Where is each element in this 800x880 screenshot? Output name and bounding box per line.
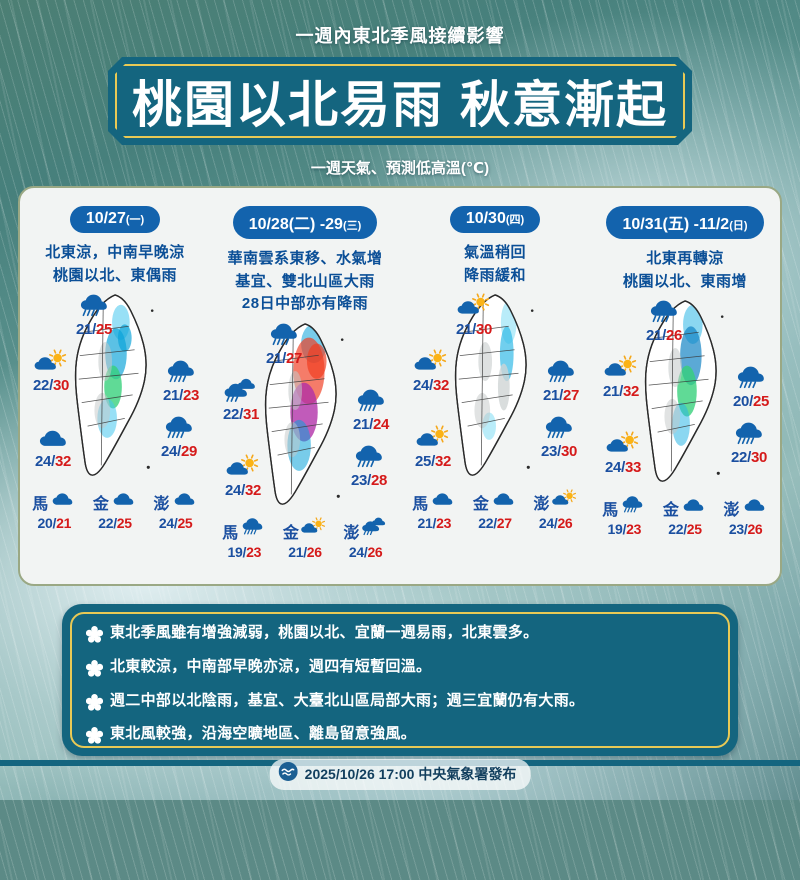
note-item: 北東較涼，中南部早晚亦涼，週四有短暫回溫。 — [86, 658, 714, 683]
weather-icon-rain — [239, 517, 266, 543]
temperature-range: 24/32 — [206, 482, 280, 499]
temp-high: 30 — [561, 443, 577, 460]
island-forecast: 澎24/26 — [527, 489, 585, 531]
island-temperature-range: 24/26 — [337, 544, 395, 560]
temp-high: 32 — [433, 377, 449, 394]
temperature-range: 23/28 — [332, 472, 406, 489]
forecast-panel: 10/31(五) -11/2(日)北東再轉涼桃園以北、東雨增 21/2621/3… — [590, 188, 780, 584]
region-forecast-west: 21/32 — [584, 349, 658, 400]
temperature-range: 22/30 — [712, 449, 782, 466]
offshore-islands-row: 馬20/21金22/25澎24/25 — [20, 489, 210, 531]
weather-icon-rain-cloud — [204, 372, 278, 406]
temp-high: 32 — [623, 383, 639, 400]
plum-blossom-icon — [86, 727, 103, 744]
temp-high: 30 — [53, 377, 69, 394]
plum-blossom-icon — [86, 626, 103, 643]
header-subtitle: 一週天氣、預測低高溫(℃) — [0, 157, 800, 178]
panel-description-line: 28日中部亦有降雨 — [210, 293, 400, 316]
weather-icon-cloudy — [171, 489, 198, 515]
region-forecast-west: 22/30 — [18, 343, 88, 394]
temp-high: 26 — [747, 521, 762, 537]
weather-icon-cloudy — [110, 489, 137, 515]
footer: 2025/10/26 17:00 中央氣象署發布 — [270, 759, 531, 790]
island-forecast: 金22/25 — [86, 489, 144, 531]
region-forecast-southeast: 23/28 — [332, 438, 406, 489]
map-block: 21/2522/3021/2324/3224/29 — [20, 291, 210, 487]
island-name: 馬 — [602, 496, 618, 520]
island-header: 馬 — [25, 489, 83, 515]
temp-low: 21 — [288, 544, 303, 560]
panel-description-line: 氣溫稍回 — [400, 242, 590, 265]
island-header: 澎 — [147, 489, 205, 515]
map-block: 21/2621/3220/2524/3322/30 — [590, 297, 780, 493]
date-pill-weekday: (日) — [729, 220, 747, 232]
temp-low: 24 — [161, 443, 177, 460]
temp-low: 20 — [38, 515, 53, 531]
island-temperature-range: 24/26 — [527, 515, 585, 531]
island-header: 澎 — [717, 495, 775, 521]
date-pill-weekday: (一) — [126, 214, 144, 226]
panel-description-line: 華南雲系東移、水氣增 — [210, 248, 400, 271]
island-temperature-range: 22/27 — [466, 515, 524, 531]
temperature-range: 21/30 — [437, 321, 511, 338]
island-name: 金 — [283, 519, 299, 543]
island-name: 馬 — [32, 490, 48, 514]
temp-high: 27 — [286, 350, 302, 367]
temp-low: 21 — [163, 387, 179, 404]
panel-description-line: 北東再轉涼 — [590, 248, 780, 271]
temperature-range: 21/25 — [57, 321, 131, 338]
island-forecast: 馬19/23 — [595, 495, 653, 537]
temp-low: 19 — [228, 544, 243, 560]
date-pill-label: 10/30 — [466, 210, 506, 227]
temperature-range: 24/32 — [18, 453, 90, 470]
weather-icon-cloudy — [49, 489, 76, 515]
temp-high: 25 — [117, 515, 132, 531]
island-forecast: 澎24/26 — [337, 518, 395, 560]
temp-low: 23 — [541, 443, 557, 460]
date-pill-label: 10/28(二) -29 — [249, 216, 343, 233]
temp-high: 27 — [497, 515, 512, 531]
temp-high: 23 — [436, 515, 451, 531]
region-forecast-east: 20/25 — [714, 359, 782, 410]
temp-high: 31 — [243, 406, 259, 423]
temp-high: 25 — [177, 515, 192, 531]
island-name: 澎 — [154, 490, 170, 514]
weather-icon-cloudy — [741, 495, 768, 521]
island-forecast: 馬19/23 — [215, 518, 273, 560]
region-forecast-southwest: 25/32 — [396, 419, 470, 470]
temp-high: 30 — [751, 449, 767, 466]
temp-high: 26 — [557, 515, 572, 531]
offshore-islands-row: 馬21/23金22/27澎24/26 — [400, 489, 590, 531]
temp-high: 24 — [373, 416, 389, 433]
island-forecast: 澎24/25 — [147, 489, 205, 531]
temp-high: 32 — [245, 482, 261, 499]
title-banner: 桃園以北易雨 秋意漸起 — [108, 57, 692, 145]
temp-high: 25 — [96, 321, 112, 338]
temp-low: 21 — [418, 515, 433, 531]
region-forecast-north: 21/27 — [247, 316, 321, 367]
panel-description: 氣溫稍回降雨緩和 — [400, 242, 590, 287]
island-name: 金 — [93, 490, 109, 514]
temp-low: 24 — [539, 515, 554, 531]
island-header: 馬 — [595, 495, 653, 521]
weather-icon-partly-sunny — [206, 448, 280, 482]
temp-high: 23 — [246, 544, 261, 560]
temp-low: 21 — [266, 350, 282, 367]
temp-low: 23 — [729, 521, 744, 537]
temp-high: 26 — [307, 544, 322, 560]
offshore-islands-row: 馬19/23金22/25澎23/26 — [590, 495, 780, 537]
island-header: 金 — [466, 489, 524, 515]
temp-low: 24 — [225, 482, 241, 499]
temperature-range: 22/30 — [18, 377, 88, 394]
forecast-panel: 10/27(一)北東涼，中南早晚涼桃園以北、東偶雨 21/2522/3021/2… — [20, 188, 210, 584]
temp-low: 20 — [733, 393, 749, 410]
temperature-range: 20/25 — [714, 393, 782, 410]
date-pill[interactable]: 10/28(二) -29(三) — [233, 206, 378, 239]
forecast-panel: 10/30(四)氣溫稍回降雨緩和 21/3024/3221/2725/3223/… — [400, 188, 590, 584]
temp-high: 25 — [753, 393, 769, 410]
weather-icon-partly-sunny — [18, 343, 88, 377]
temp-low: 25 — [415, 453, 431, 470]
temp-high: 32 — [435, 453, 451, 470]
region-forecast-north: 21/26 — [627, 293, 701, 344]
island-name: 澎 — [724, 496, 740, 520]
temp-high: 28 — [371, 472, 387, 489]
weather-icon-cloudy — [429, 489, 456, 515]
panel-description: 北東再轉涼桃園以北、東雨增 — [590, 248, 780, 293]
cwa-logo-icon — [279, 762, 298, 786]
temp-low: 22 — [668, 521, 683, 537]
island-temperature-range: 19/23 — [595, 521, 653, 537]
island-temperature-range: 23/26 — [717, 521, 775, 537]
panel-description: 北東涼，中南早晚涼桃園以北、東偶雨 — [20, 242, 210, 287]
temperature-range: 22/31 — [204, 406, 278, 423]
map-block: 21/2722/3121/2424/3223/28 — [210, 320, 400, 516]
island-name: 金 — [663, 496, 679, 520]
temperature-range: 25/32 — [396, 453, 470, 470]
temp-high: 21 — [56, 515, 71, 531]
offshore-islands-row: 馬19/23金21/26澎24/26 — [210, 518, 400, 560]
plum-blossom-icon — [86, 660, 103, 677]
temperature-range: 21/26 — [627, 327, 701, 344]
forecast-panels: 10/27(一)北東涼，中南早晚涼桃園以北、東偶雨 21/2522/3021/2… — [20, 188, 780, 584]
temp-high: 26 — [666, 327, 682, 344]
temp-high: 30 — [476, 321, 492, 338]
island-name: 馬 — [222, 519, 238, 543]
weather-icon-rain — [247, 316, 321, 350]
region-forecast-southeast: 22/30 — [712, 415, 782, 466]
forecast-card: 10/27(一)北東涼，中南早晚涼桃園以北、東偶雨 21/2522/3021/2… — [18, 186, 782, 586]
temperature-range: 23/30 — [522, 443, 596, 460]
panel-description-line: 北東涼，中南早晚涼 — [20, 242, 210, 265]
region-forecast-west: 24/32 — [394, 343, 468, 394]
weather-infographic: 一週內東北季風接續影響 桃園以北易雨 秋意漸起 一週天氣、預測低高溫(℃) 10… — [0, 0, 800, 800]
island-temperature-range: 21/23 — [405, 515, 463, 531]
island-name: 金 — [473, 490, 489, 514]
temp-low: 22 — [478, 515, 493, 531]
temp-high: 23 — [183, 387, 199, 404]
forecast-panel: 10/28(二) -29(三)華南雲系東移、水氣增基宜、雙北山區大雨28日中部亦… — [210, 188, 400, 584]
temp-high: 29 — [181, 443, 197, 460]
note-text: 東北風較強，沿海空曠地區、離島留意強風。 — [110, 725, 416, 744]
temperature-range: 24/33 — [586, 459, 660, 476]
temp-low: 21 — [603, 383, 619, 400]
weather-icon-rain — [332, 438, 406, 472]
temp-low: 24 — [349, 544, 364, 560]
island-forecast: 澎23/26 — [717, 495, 775, 537]
weather-icon-cloudy — [680, 495, 707, 521]
region-forecast-southwest: 24/32 — [206, 448, 280, 499]
temperature-range: 24/29 — [142, 443, 216, 460]
panel-description-line: 降雨緩和 — [400, 265, 590, 288]
island-header: 馬 — [215, 518, 273, 544]
date-pill-label: 10/27 — [86, 210, 126, 227]
temp-low: 21 — [456, 321, 472, 338]
weather-icon-cloudy — [18, 419, 90, 453]
island-name: 馬 — [412, 490, 428, 514]
weather-icon-partly-sunny — [437, 287, 511, 321]
temp-low: 21 — [543, 387, 559, 404]
island-header: 金 — [656, 495, 714, 521]
temp-low: 19 — [608, 521, 623, 537]
island-temperature-range: 20/21 — [25, 515, 83, 531]
island-forecast: 金22/27 — [466, 489, 524, 531]
island-name: 澎 — [534, 490, 550, 514]
temp-high: 33 — [625, 459, 641, 476]
footer-text: 2025/10/26 17:00 中央氣象署發布 — [305, 764, 517, 784]
note-text: 北東較涼，中南部早晚亦涼，週四有短暫回溫。 — [110, 658, 431, 677]
temp-low: 23 — [351, 472, 367, 489]
weather-icon-partly-sunny — [300, 517, 327, 543]
date-pill-weekday: (三) — [343, 220, 361, 232]
notes-box: 東北季風雖有增強減弱，桃園以北、宜蘭一週易雨，北東雲多。 北東較涼，中南部早晚亦… — [62, 604, 738, 756]
panel-description: 華南雲系東移、水氣增基宜、雙北山區大雨28日中部亦有降雨 — [210, 248, 400, 316]
temp-low: 21 — [646, 327, 662, 344]
island-temperature-range: 22/25 — [86, 515, 144, 531]
note-item: 東北風較強，沿海空曠地區、離島留意強風。 — [86, 725, 714, 750]
weather-icon-cloudy — [490, 489, 517, 515]
note-text: 東北季風雖有增強減弱，桃園以北、宜蘭一週易雨，北東雲多。 — [110, 624, 538, 643]
island-temperature-range: 21/26 — [276, 544, 334, 560]
region-forecast-west: 22/31 — [204, 372, 278, 423]
temp-high: 32 — [55, 453, 71, 470]
weather-icon-rain — [619, 495, 646, 521]
region-forecast-southwest: 24/33 — [586, 425, 660, 476]
note-item: 週二中部以北陰雨，基宜、大臺北山區局部大雨；週三宜蘭仍有大雨。 — [86, 692, 714, 717]
date-pill-label: 10/31(五) -11/2 — [622, 216, 729, 233]
page-title: 桃園以北易雨 秋意漸起 — [132, 65, 668, 137]
weather-icon-rain-cloud — [361, 517, 388, 543]
island-forecast: 馬21/23 — [405, 489, 463, 531]
panel-description-line: 桃園以北、東雨增 — [590, 271, 780, 294]
temp-low: 24 — [413, 377, 429, 394]
weather-icon-rain — [57, 287, 131, 321]
weather-icon-partly-sunny — [584, 349, 658, 383]
notes-list: 東北季風雖有增強減弱，桃園以北、宜蘭一週易雨，北東雲多。 北東較涼，中南部早晚亦… — [70, 612, 730, 748]
date-pill[interactable]: 10/31(五) -11/2(日) — [606, 206, 763, 239]
island-header: 澎 — [337, 518, 395, 544]
weather-icon-rain — [522, 409, 596, 443]
temperature-range: 21/32 — [584, 383, 658, 400]
temperature-range: 24/32 — [394, 377, 468, 394]
note-item: 東北季風雖有增強減弱，桃園以北、宜蘭一週易雨，北東雲多。 — [86, 624, 714, 649]
region-forecast-southeast: 23/30 — [522, 409, 596, 460]
weather-icon-rain — [712, 415, 782, 449]
temp-low: 21 — [76, 321, 92, 338]
region-forecast-north: 21/25 — [57, 287, 131, 338]
weather-icon-partly-sunny — [394, 343, 468, 377]
temp-low: 24 — [605, 459, 621, 476]
island-name: 澎 — [344, 519, 360, 543]
temp-low: 22 — [33, 377, 49, 394]
header-kicker: 一週內東北季風接續影響 — [0, 22, 800, 48]
note-text: 週二中部以北陰雨，基宜、大臺北山區局部大雨；週三宜蘭仍有大雨。 — [110, 692, 584, 711]
weather-icon-rain — [627, 293, 701, 327]
island-forecast: 馬20/21 — [25, 489, 83, 531]
temp-low: 22 — [223, 406, 239, 423]
island-header: 金 — [276, 518, 334, 544]
temp-low: 22 — [98, 515, 113, 531]
region-forecast-north: 21/30 — [437, 287, 511, 338]
temp-high: 27 — [563, 387, 579, 404]
date-pill[interactable]: 10/27(一) — [70, 206, 160, 233]
weather-icon-rain — [714, 359, 782, 393]
panel-description-line: 基宜、雙北山區大雨 — [210, 271, 400, 294]
island-header: 澎 — [527, 489, 585, 515]
temp-low: 24 — [35, 453, 51, 470]
date-pill-weekday: (四) — [506, 214, 524, 226]
temp-high: 23 — [626, 521, 641, 537]
island-header: 金 — [86, 489, 144, 515]
island-temperature-range: 24/25 — [147, 515, 205, 531]
weather-icon-partly-sunny — [586, 425, 660, 459]
temp-low: 21 — [353, 416, 369, 433]
temp-high: 26 — [367, 544, 382, 560]
island-forecast: 金21/26 — [276, 518, 334, 560]
temp-high: 25 — [687, 521, 702, 537]
date-pill[interactable]: 10/30(四) — [450, 206, 540, 233]
weather-icon-partly-sunny — [396, 419, 470, 453]
map-block: 21/3024/3221/2725/3223/30 — [400, 291, 590, 487]
island-header: 馬 — [405, 489, 463, 515]
panel-description-line: 桃園以北、東偶雨 — [20, 265, 210, 288]
temp-low: 24 — [159, 515, 174, 531]
island-forecast: 金22/25 — [656, 495, 714, 537]
island-temperature-range: 22/25 — [656, 521, 714, 537]
island-temperature-range: 19/23 — [215, 544, 273, 560]
region-forecast-southwest: 24/32 — [18, 419, 90, 470]
weather-icon-partly-sunny — [551, 489, 578, 515]
temp-low: 22 — [731, 449, 747, 466]
plum-blossom-icon — [86, 694, 103, 711]
temperature-range: 21/27 — [247, 350, 321, 367]
